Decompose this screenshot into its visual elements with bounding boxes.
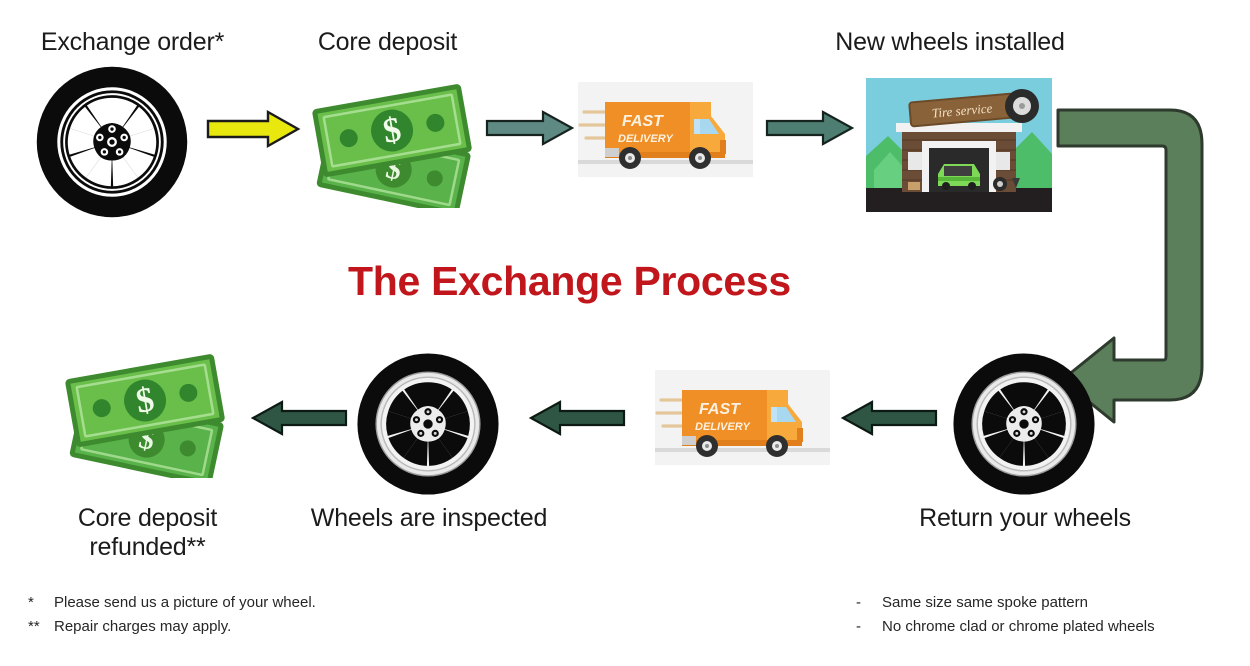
footnote-row: ** Repair charges may apply. xyxy=(28,618,316,635)
footnote-text: No chrome clad or chrome plated wheels xyxy=(882,618,1155,635)
svg-text:DELIVERY: DELIVERY xyxy=(618,133,674,145)
footnote-row: - No chrome clad or chrome plated wheels xyxy=(856,618,1155,635)
label-core-deposit-refunded-line2: refunded** xyxy=(89,533,205,561)
silver-alloy-wheel-icon xyxy=(356,352,500,496)
svg-text:FAST: FAST xyxy=(622,113,664,130)
fast-delivery-truck-icon: FAST DELIVERY xyxy=(655,370,830,465)
black-alloy-wheel-icon xyxy=(36,66,188,218)
label-return-your-wheels: Return your wheels xyxy=(900,504,1150,533)
footnote-text: Please send us a picture of your wheel. xyxy=(54,594,316,611)
dark-green-arrow-icon xyxy=(528,398,626,438)
label-core-deposit-refunded: Core deposit refunded** xyxy=(35,504,260,562)
cash-banknotes-icon: $ $ xyxy=(58,348,238,478)
label-wheels-inspected: Wheels are inspected xyxy=(298,504,560,533)
fast-delivery-truck-icon: FAST DELIVERY xyxy=(578,82,753,177)
dark-green-arrow-icon xyxy=(250,398,348,438)
footnotes-right: - Same size same spoke pattern - No chro… xyxy=(856,594,1155,642)
tire-service-shop-icon: Tire service xyxy=(866,78,1052,212)
exchange-process-diagram: Exchange order* Core deposit New wheels … xyxy=(0,0,1250,666)
footnotes-left: * Please send us a picture of your wheel… xyxy=(28,594,316,642)
footnote-text: Repair charges may apply. xyxy=(54,618,231,635)
label-new-wheels-installed: New wheels installed xyxy=(800,28,1100,57)
label-core-deposit: Core deposit xyxy=(280,28,495,57)
footnote-text: Same size same spoke pattern xyxy=(882,594,1088,611)
footnote-row: - Same size same spoke pattern xyxy=(856,594,1155,611)
svg-text:DELIVERY: DELIVERY xyxy=(695,421,751,433)
yellow-arrow-icon xyxy=(206,108,301,150)
cash-banknotes-icon: $ $ xyxy=(305,78,485,208)
footnote-mark: - xyxy=(856,618,882,635)
footnote-row: * Please send us a picture of your wheel… xyxy=(28,594,316,611)
footnote-mark: * xyxy=(28,594,54,611)
page-title: The Exchange Process xyxy=(348,258,791,305)
label-core-deposit-refunded-line1: Core deposit xyxy=(78,504,217,532)
footnote-mark: ** xyxy=(28,618,54,635)
dark-green-arrow-icon xyxy=(840,398,938,438)
footnote-mark: - xyxy=(856,594,882,611)
silver-alloy-wheel-icon xyxy=(952,352,1096,496)
svg-text:FAST: FAST xyxy=(699,401,741,418)
teal-arrow-icon xyxy=(485,108,575,148)
teal-arrow-icon xyxy=(765,108,855,148)
label-exchange-order: Exchange order* xyxy=(10,28,255,57)
